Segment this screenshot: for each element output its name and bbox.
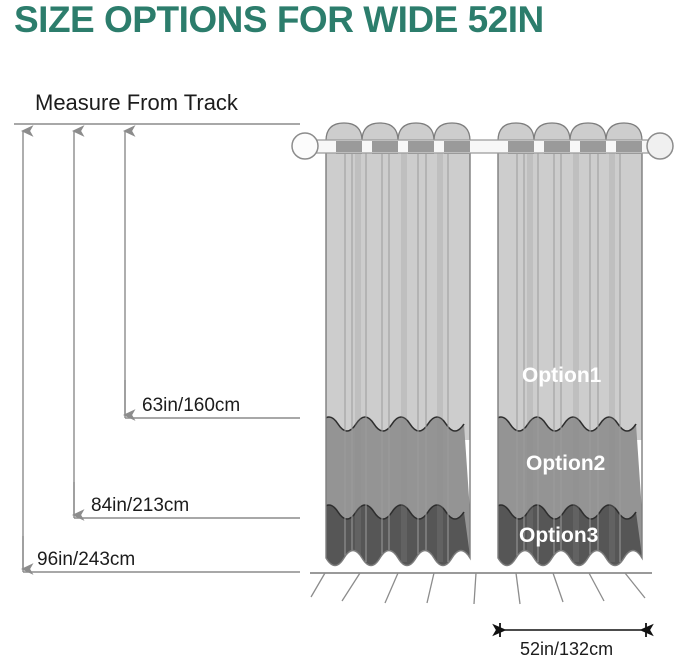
measurement-label-option2: 84in/213cm xyxy=(91,495,189,516)
floor-hatching xyxy=(311,573,645,604)
band-option1 xyxy=(320,140,476,440)
page-title: SIZE OPTIONS FOR WIDE 52IN xyxy=(14,0,544,40)
measurement-label-option1: 63in/160cm xyxy=(142,395,240,416)
width-dimension-label: 52in/132cm xyxy=(520,639,613,659)
band-label-option3: Option3 xyxy=(519,524,598,547)
subtitle-measure-from-track: Measure From Track xyxy=(35,90,239,115)
width-dimension: 52in/132cm xyxy=(500,623,646,659)
band-option1 xyxy=(492,140,648,440)
band-label-option1: Option1 xyxy=(522,364,602,387)
measurement-label-option3: 96in/243cm xyxy=(37,549,135,570)
size-options-diagram: SIZE OPTIONS FOR WIDE 52IN Measure From … xyxy=(0,0,679,660)
band-label-option2: Option2 xyxy=(526,452,605,475)
curtain-panel-left xyxy=(320,123,476,600)
rod-finial-icon xyxy=(647,133,673,159)
rod-finial-icon xyxy=(292,133,318,159)
